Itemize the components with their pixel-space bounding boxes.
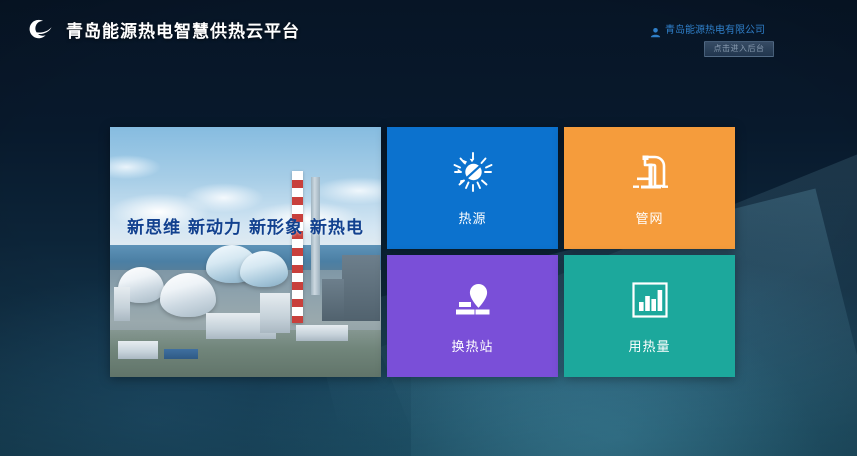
app-root: 青岛能源热电智慧供热云平台 青岛能源热电有限公司 点击进入后台 [0, 0, 857, 456]
bar-chart-icon [628, 278, 672, 322]
photo-building-3 [322, 279, 344, 321]
tile-heat-usage[interactable]: 用热量 [564, 255, 735, 377]
tile-label-pipe-network: 管网 [635, 208, 663, 227]
valve-pipe-icon [628, 150, 672, 194]
user-icon [650, 23, 661, 34]
photo-shed-2 [296, 325, 348, 341]
tile-label-heat-station: 换热站 [451, 336, 493, 355]
photo-dome-4 [240, 251, 288, 287]
swoosh-e-logo-icon [22, 12, 56, 46]
map-pin-icon [451, 278, 495, 322]
tile-label-heat-source: 热源 [458, 208, 486, 227]
power-plant-photo: 新思维 新动力 新形象 新热电 [110, 127, 381, 377]
tile-heat-source[interactable]: 热源 [387, 127, 558, 249]
photo-building-2 [342, 255, 380, 321]
user-info[interactable]: 青岛能源热电有限公司 [650, 21, 765, 36]
hero-headline: 新思维 新动力 新形象 新热电 [110, 213, 381, 238]
photo-shed-1 [118, 341, 158, 359]
page-title: 青岛能源热电智慧供热云平台 [66, 17, 300, 42]
page-header: 青岛能源热电智慧供热云平台 青岛能源热电有限公司 点击进入后台 [0, 0, 857, 56]
tile-pipe-network[interactable]: 管网 [564, 127, 735, 249]
photo-tank-row [164, 349, 198, 359]
tile-heat-station[interactable]: 换热站 [387, 255, 558, 377]
hero-photo-tile[interactable]: 新思维 新动力 新形象 新热电 [110, 127, 381, 377]
photo-building-5 [260, 293, 290, 333]
photo-building-1 [114, 287, 130, 321]
photo-chimney-striped [292, 171, 303, 323]
sun-icon [451, 150, 495, 194]
tile-grid: 新思维 新动力 新形象 新热电 [110, 127, 735, 381]
user-company-name: 青岛能源热电有限公司 [665, 21, 765, 36]
tile-label-heat-usage: 用热量 [628, 336, 670, 355]
brand: 青岛能源热电智慧供热云平台 [22, 12, 300, 46]
enter-backstage-button[interactable]: 点击进入后台 [704, 41, 774, 57]
